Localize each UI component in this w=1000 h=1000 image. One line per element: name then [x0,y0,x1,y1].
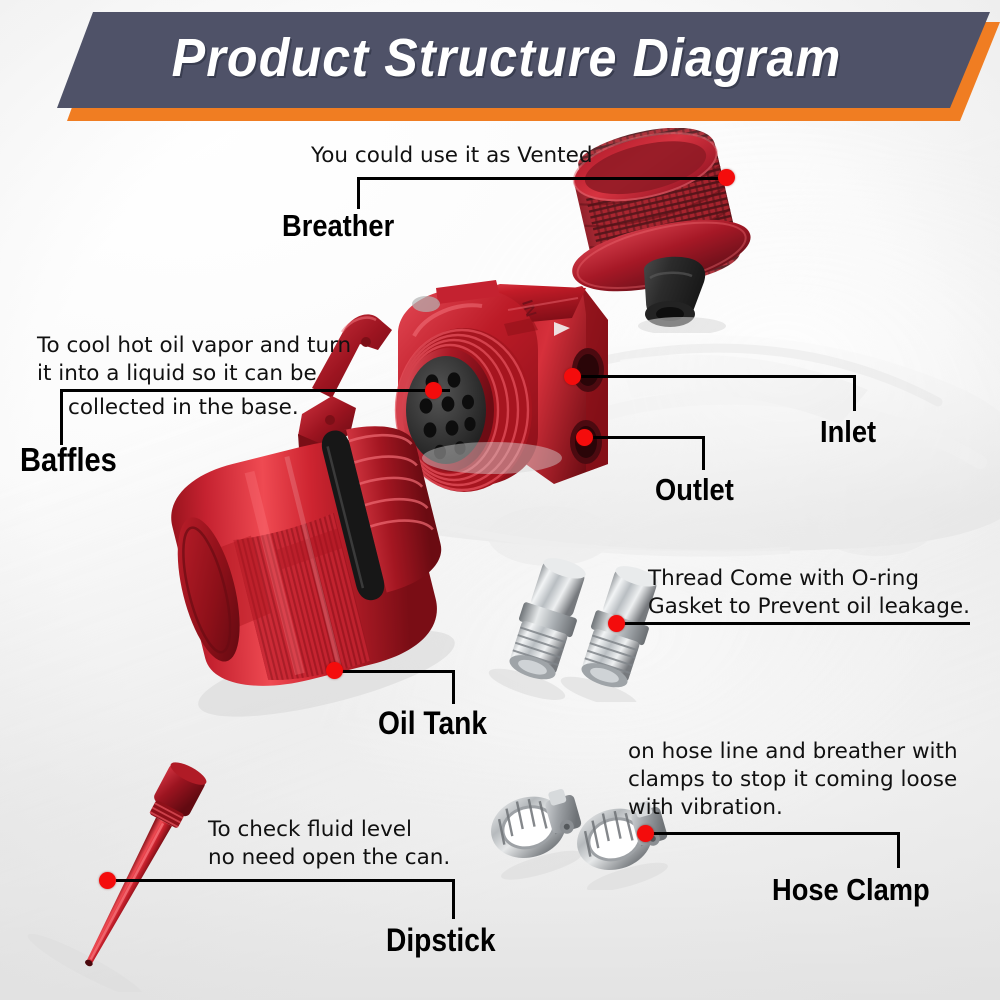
hose-clamp-label: Hose Clamp [772,872,930,908]
inlet-marker-dot [564,368,581,385]
oil-tank-leader-horizontal [338,670,455,673]
baffles-note-line1: To cool hot oil vapor and turn [37,332,351,360]
breather-note: You could use it as Vented [311,142,592,170]
thread-note-line2: Gasket to Prevent oil leakage. [648,593,970,621]
breather-leader-horizontal [357,177,727,180]
hose-clamp-note-line2: clamps to stop it coming loose [628,766,957,794]
thread-marker-dot [608,615,625,632]
hose-clamp-note-line3: with vibration. [628,794,783,822]
oil-tank-label: Oil Tank [378,705,487,742]
page-title: Product Structure Diagram [35,22,965,94]
hose-clamp-leader-vertical [897,832,900,868]
outlet-label: Outlet [655,472,734,508]
breather-label: Breather [282,208,394,244]
breather-marker-dot [718,169,735,186]
baffles-leader-vertical [60,389,63,445]
header-banner: Product Structure Diagram [0,0,1000,132]
outlet-marker-dot [576,429,593,446]
baffles-note-line2: it into a liquid so it can be [37,360,317,388]
hose-clamp-leader-horizontal [648,832,900,835]
thread-leader-horizontal [617,622,970,625]
dipstick-note-line1: To check fluid level [208,816,412,844]
product-structure-diagram: Product Structure Diagram [0,0,1000,1000]
oil-tank-marker-dot [326,662,343,679]
hose-clamp-note-line1: on hose line and breather with [628,738,958,766]
outlet-leader-vertical [702,436,705,470]
baffles-note-line3: collected in the base. [68,394,299,422]
thread-note-line1: Thread Come with O-ring [648,565,919,593]
dipstick-leader-vertical [452,879,455,919]
dipstick-part [20,752,250,992]
dipstick-leader-horizontal [116,879,455,882]
breather-leader-vertical [357,177,360,209]
dipstick-marker-dot [99,872,116,889]
dipstick-label: Dipstick [386,922,496,959]
baffles-label: Baffles [20,441,117,479]
hose-clamp-marker-dot [637,825,654,842]
inlet-leader-horizontal [580,375,856,378]
dipstick-note-line2: no need open the can. [208,844,450,872]
oil-tank-leader-vertical [452,670,455,704]
inlet-leader-vertical [853,375,856,411]
outlet-leader-horizontal [592,436,705,439]
inlet-label: Inlet [820,414,876,450]
baffles-leader-horizontal [60,389,450,392]
baffles-marker-dot [425,382,442,399]
oil-tank-part [152,424,482,724]
